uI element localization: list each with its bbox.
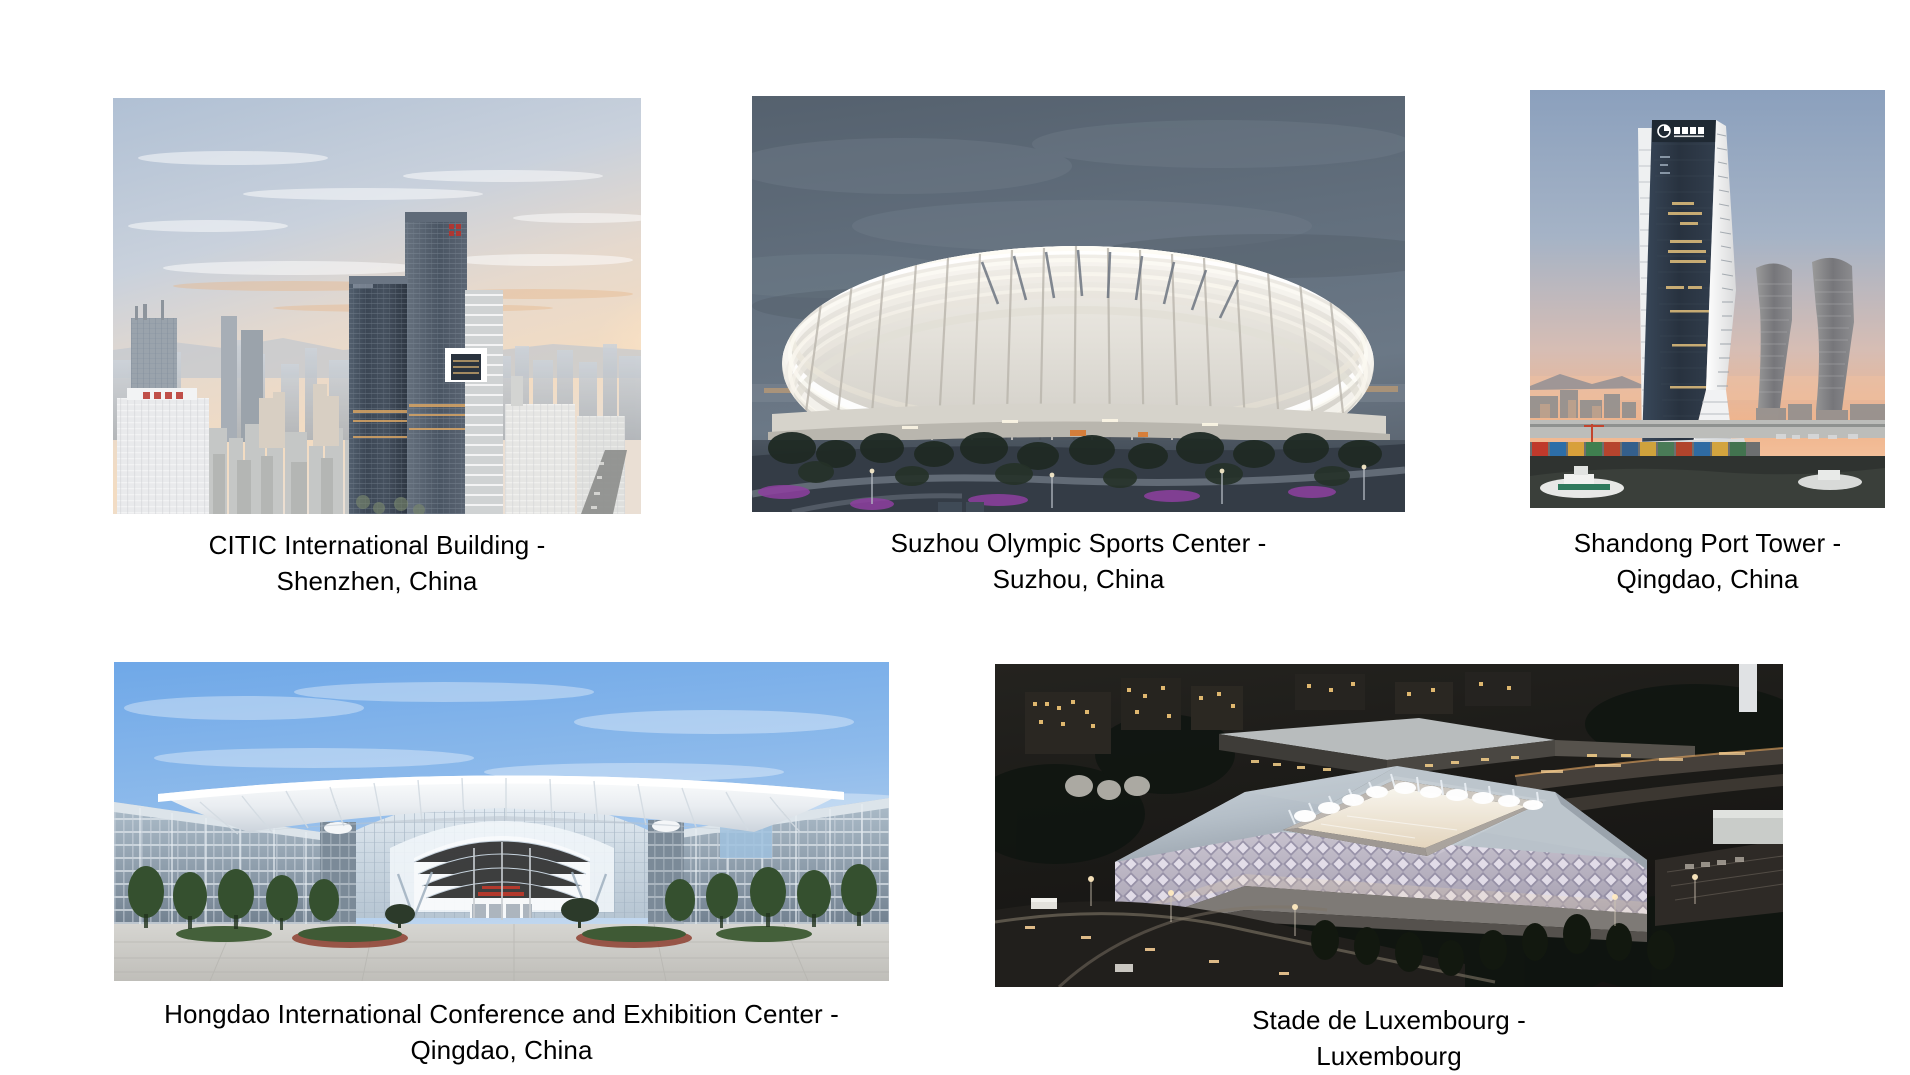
gallery-item-caption: Shandong Port Tower - Qingdao, China bbox=[1574, 526, 1842, 598]
gallery-item-caption: Stade de Luxembourg - Luxembourg bbox=[1252, 1003, 1526, 1075]
gallery-item-suzhou-olympic-sports-center[interactable]: Suzhou Olympic Sports Center - Suzhou, C… bbox=[752, 96, 1405, 598]
gallery-item-shandong-port-tower[interactable]: Shandong Port Tower - Qingdao, China bbox=[1530, 90, 1885, 598]
gallery-item-stade-de-luxembourg[interactable]: Stade de Luxembourg - Luxembourg bbox=[995, 664, 1783, 1075]
gallery-item-caption: CITIC International Building - Shenzhen,… bbox=[209, 528, 546, 600]
photo-stade-de-luxembourg[interactable] bbox=[995, 664, 1783, 987]
photo-hongdao-international-conference-and-exhibition-center[interactable] bbox=[114, 662, 889, 981]
photo-shandong-port-tower[interactable] bbox=[1530, 90, 1885, 508]
photo-citic-international-building[interactable] bbox=[113, 98, 641, 514]
gallery-item-caption: Hongdao International Conference and Exh… bbox=[164, 997, 839, 1069]
photo-suzhou-olympic-sports-center[interactable] bbox=[752, 96, 1405, 512]
gallery-item-caption: Suzhou Olympic Sports Center - Suzhou, C… bbox=[891, 526, 1267, 598]
image-gallery: CITIC International Building - Shenzhen,… bbox=[0, 0, 1910, 1065]
gallery-item-hongdao-international-conference-and-exhibition-center[interactable]: Hongdao International Conference and Exh… bbox=[114, 662, 889, 1069]
gallery-item-citic-international-building[interactable]: CITIC International Building - Shenzhen,… bbox=[113, 98, 641, 600]
